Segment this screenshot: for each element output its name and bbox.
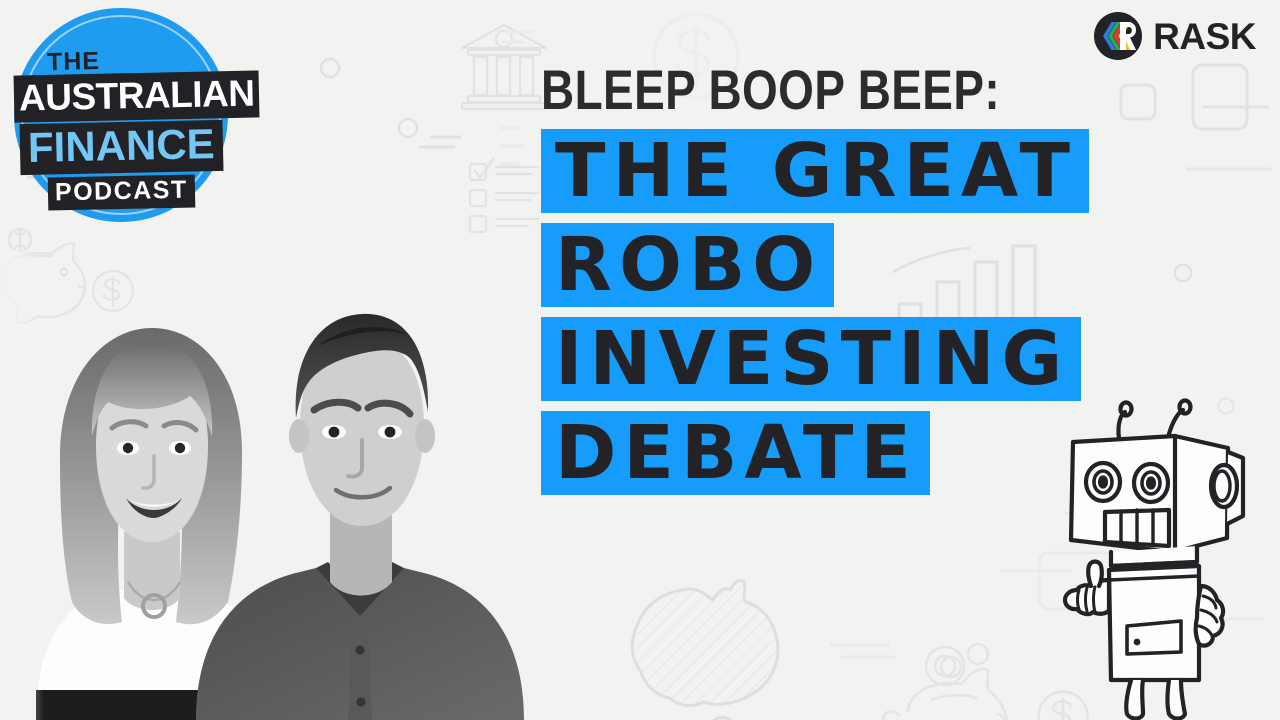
host-right [196,314,524,720]
ring-watermark [396,116,420,140]
title-line-1-row: THE GREAT [541,129,1201,213]
title-line-3: INVESTING [541,317,1081,401]
title-line-2-row: ROBO [541,223,1201,307]
title-line-2: ROBO [541,223,834,307]
logo-line-the: THE [47,46,229,74]
episode-title-kicker: BLEEP BOOP BEEP: [541,62,1082,118]
line-pair-watermark [418,130,468,154]
title-line-3-row: INVESTING [541,317,1201,401]
line-art-robot-illustration [1057,390,1272,720]
piggy-bank-watermark-right [880,638,1080,720]
australia-map-watermark [600,572,800,720]
podcast-episode-cover: THE AUSTRALIAN FINANCE PODCAST RASK BLEE… [0,0,1280,720]
logo-line-finance: FINANCE [19,120,223,175]
australian-finance-podcast-logo: THE AUSTRALIAN FINANCE PODCAST [14,8,228,222]
title-line-4: DEBATE [541,411,930,495]
line-pair-watermark [830,638,920,664]
rask-logo[interactable]: RASK [1094,12,1256,60]
line-pair-watermark [502,26,542,50]
line-pair-watermark [1202,100,1280,114]
ring-watermark [318,56,342,80]
checklist-watermark [466,158,546,238]
rounded-square-watermark [1190,62,1264,146]
ring-watermark [938,654,964,680]
rask-chevron-r-icon [1094,12,1142,60]
rask-wordmark: RASK [1153,18,1256,55]
podcast-hosts-photo [0,250,540,720]
line-pair-watermark [500,120,534,180]
logo-line-australian: AUSTRALIAN [14,70,260,122]
title-line-1: THE GREAT [541,129,1089,213]
logo-line-podcast: PODCAST [47,174,194,210]
bank-building-watermark [454,18,554,118]
